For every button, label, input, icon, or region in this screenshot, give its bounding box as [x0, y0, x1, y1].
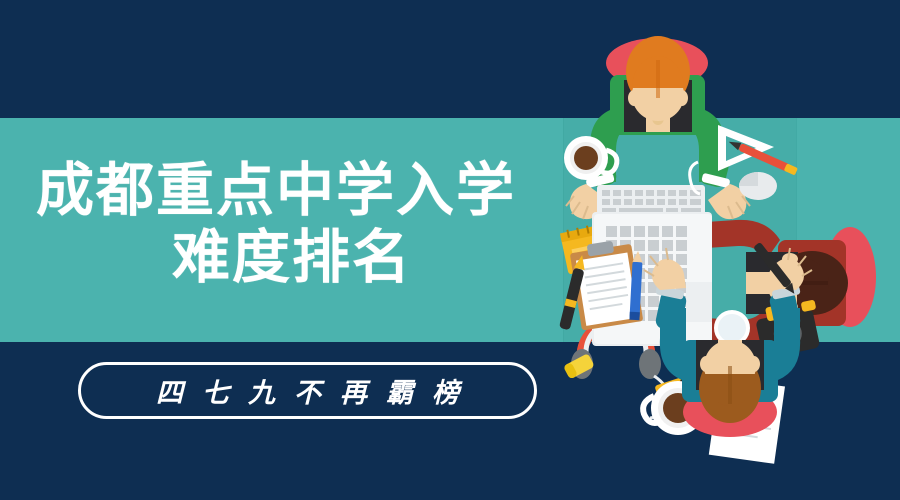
subtitle-pill: 四七九不再霸榜 [78, 362, 537, 419]
subtitle-text: 四七九不再霸榜 [137, 371, 478, 410]
title-block: 成都重点中学入学 难度排名 [0, 160, 580, 289]
office-illustration [550, 0, 900, 500]
poster-canvas: 成都重点中学入学 难度排名 四七九不再霸榜 [0, 0, 900, 500]
title-line-2: 难度排名 [0, 227, 580, 288]
title-line-1: 成都重点中学入学 [0, 160, 580, 221]
